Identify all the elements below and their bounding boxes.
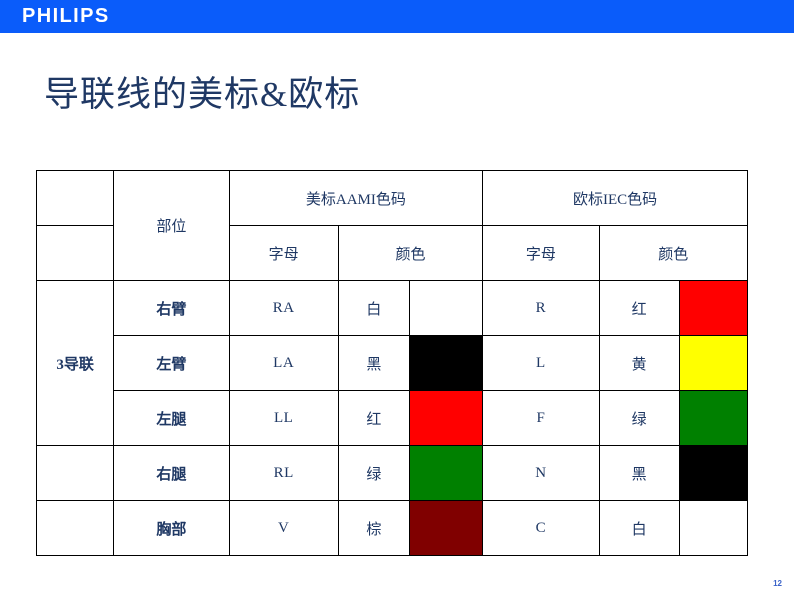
- iec-color-name-cell: 黑: [599, 446, 679, 501]
- aami-color-name-cell: 黑: [338, 336, 409, 391]
- aami-color-swatch: [410, 336, 483, 391]
- table-row: 3导联 右臂 RA 白 R 红: [37, 281, 748, 336]
- group-spacer-cell: [37, 446, 114, 501]
- site-cell: 左腿: [114, 391, 229, 446]
- aami-color-name-cell: 棕: [338, 501, 409, 556]
- table-row: 左臂 LA 黑 L 黄: [37, 336, 748, 391]
- aami-color-swatch: [410, 391, 483, 446]
- iec-color-name-cell: 黄: [599, 336, 679, 391]
- iec-letter-cell: F: [483, 391, 599, 446]
- iec-letter-cell: C: [483, 501, 599, 556]
- iec-color-swatch: [679, 501, 747, 556]
- iec-letter-cell: R: [483, 281, 599, 336]
- aami-color-name-cell: 白: [338, 281, 409, 336]
- philips-logo: PHILIPS: [22, 6, 110, 27]
- iec-color-swatch: [679, 391, 747, 446]
- iec-color-name-cell: 绿: [599, 391, 679, 446]
- iec-color-swatch: [679, 336, 747, 391]
- aami-color-name-cell: 绿: [338, 446, 409, 501]
- lead-wire-color-table: 部位 美标AAMI色码 欧标IEC色码 字母 颜色 字母 颜色 3导联 右臂 R…: [36, 170, 748, 556]
- iec-color-name-cell: 红: [599, 281, 679, 336]
- iec-color-name-cell: 白: [599, 501, 679, 556]
- page-number: 12: [773, 579, 782, 588]
- iec-letter-cell: N: [483, 446, 599, 501]
- header-spacer-cell: [37, 171, 114, 226]
- table-row: 右腿 RL 绿 N 黑: [37, 446, 748, 501]
- table-row: 胸部 V 棕 C 白: [37, 501, 748, 556]
- philips-brand-bar: PHILIPS: [0, 0, 794, 33]
- page-title: 导联线的美标&欧标: [44, 66, 360, 117]
- header-site: 部位: [114, 171, 229, 281]
- header-aami-letter: 字母: [229, 226, 338, 281]
- table-header-row-top: 部位 美标AAMI色码 欧标IEC色码: [37, 171, 748, 226]
- aami-color-swatch: [410, 501, 483, 556]
- site-cell: 左臂: [114, 336, 229, 391]
- group-spacer-cell: [37, 501, 114, 556]
- lead-wire-color-table-wrapper: 部位 美标AAMI色码 欧标IEC色码 字母 颜色 字母 颜色 3导联 右臂 R…: [36, 170, 748, 562]
- aami-color-swatch: [410, 446, 483, 501]
- iec-letter-cell: L: [483, 336, 599, 391]
- aami-letter-cell: V: [229, 501, 338, 556]
- aami-letter-cell: RL: [229, 446, 338, 501]
- site-cell: 右腿: [114, 446, 229, 501]
- header-aami-color: 颜色: [338, 226, 482, 281]
- aami-color-swatch: [410, 281, 483, 336]
- group-cell-3-lead: 3导联: [37, 281, 114, 446]
- header-aami-group: 美标AAMI色码: [229, 171, 483, 226]
- iec-color-swatch: [679, 281, 747, 336]
- aami-color-name-cell: 红: [338, 391, 409, 446]
- site-cell: 胸部: [114, 501, 229, 556]
- table-row: 左腿 LL 红 F 绿: [37, 391, 748, 446]
- aami-letter-cell: LL: [229, 391, 338, 446]
- header-iec-group: 欧标IEC色码: [483, 171, 748, 226]
- aami-letter-cell: RA: [229, 281, 338, 336]
- iec-color-swatch: [679, 446, 747, 501]
- header-iec-letter: 字母: [483, 226, 599, 281]
- header-iec-color: 颜色: [599, 226, 747, 281]
- aami-letter-cell: LA: [229, 336, 338, 391]
- header-spacer-cell-2: [37, 226, 114, 281]
- site-cell: 右臂: [114, 281, 229, 336]
